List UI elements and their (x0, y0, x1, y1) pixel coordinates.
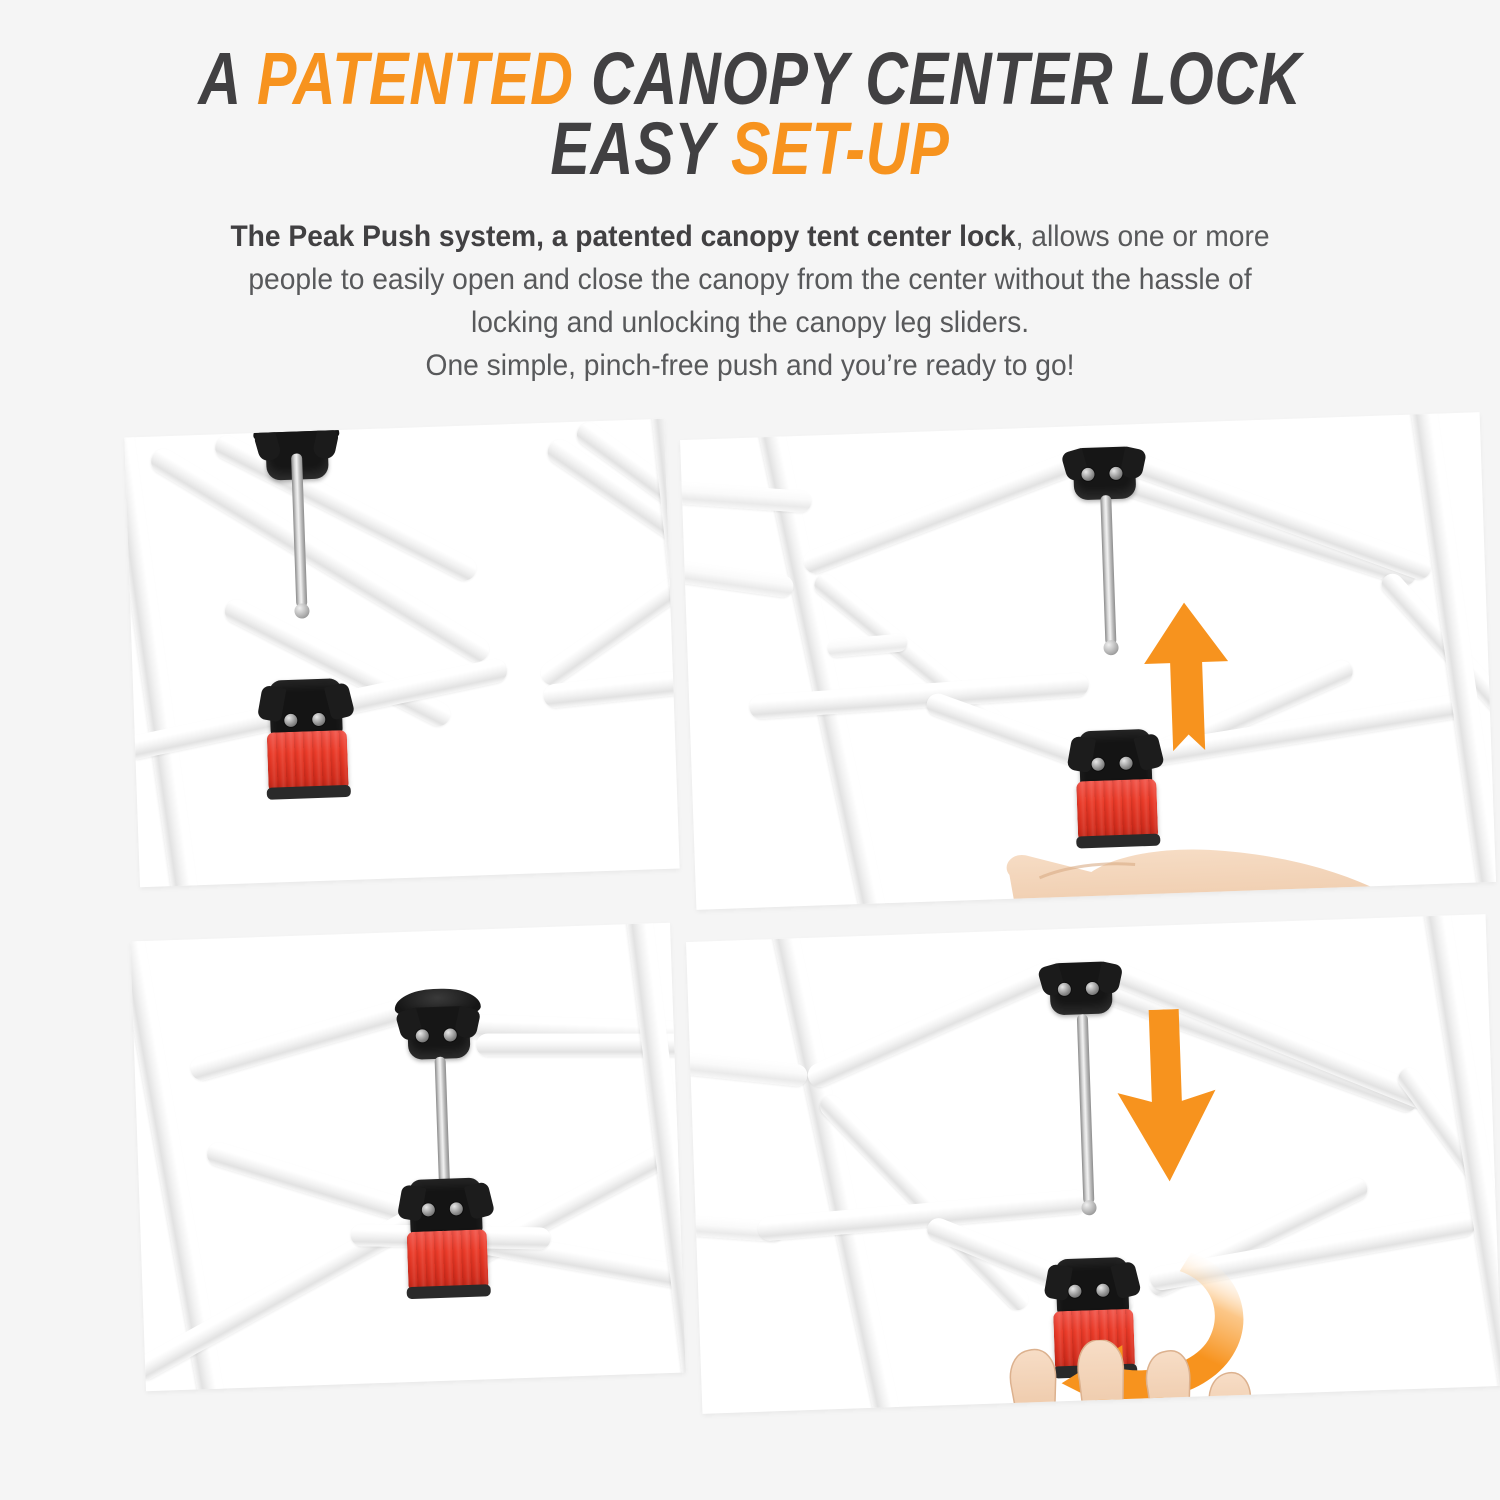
panel-bottom-right (686, 914, 1500, 1414)
center-lock-hub (409, 1177, 483, 1235)
push-rod (1077, 1014, 1095, 1204)
subtitle-line-1-rest: , allows one or more (1016, 220, 1270, 253)
frame-tube-stub-left-top (686, 1051, 809, 1088)
red-center-lock-knob[interactable] (267, 730, 349, 793)
push-rod-tip (1103, 640, 1119, 656)
subtitle-line-1: The Peak Push system, a patented canopy … (139, 215, 1361, 258)
title-line-2: EASY SET-UP (150, 114, 1350, 184)
subtitle-line-2: people to easily open and close the cano… (139, 258, 1361, 301)
image-panel-grid (0, 412, 1500, 1492)
frame-tube-rafter-right-b (1107, 444, 1435, 583)
push-rod-tip (1081, 1200, 1097, 1216)
canopy-frame-open-illustration (130, 923, 685, 1392)
title-part-c: EASY (550, 107, 731, 190)
push-rod-tip (294, 603, 310, 619)
frame-tube-lower-left-bar (749, 672, 1090, 720)
frame-tube-stub-left-mid (680, 559, 795, 599)
frame-tube-rafter-left (800, 447, 1089, 577)
title-highlight-patented: PATENTED (257, 37, 574, 120)
subtitle-line-4: One simple, pinch-free push and you’re r… (139, 344, 1361, 387)
title-line-1: A PATENTED CANOPY CENTER LOCK (150, 44, 1350, 114)
frame-tube-upper-left (188, 994, 425, 1083)
canopy-push-up-illustration (680, 412, 1496, 910)
header: A PATENTED CANOPY CENTER LOCK EASY SET-U… (0, 0, 1500, 387)
arrow-down-icon (1109, 1008, 1225, 1187)
canopy-twist-release-illustration (686, 914, 1500, 1414)
canopy-frame-closed-illustration (124, 419, 679, 888)
frame-tube-leg-far-right (1408, 412, 1496, 910)
hand-open-palm (993, 803, 1420, 910)
page-title: A PATENTED CANOPY CENTER LOCK EASY SET-U… (150, 44, 1350, 185)
subtitle-line-3: locking and unlocking the canopy leg sli… (139, 301, 1361, 344)
panel-top-right (680, 412, 1496, 910)
frame-tube-rafter-right (1098, 464, 1419, 589)
hand-pinch-grip (992, 1333, 1298, 1414)
title-part-a: A (198, 37, 257, 120)
frame-tube-leg-far-left (752, 412, 894, 910)
push-rod (1100, 495, 1116, 645)
push-rod (435, 1057, 450, 1185)
panel-top-left (124, 419, 679, 888)
subtitle-paragraph: The Peak Push system, a patented canopy … (139, 215, 1361, 388)
arrow-up-icon (1134, 599, 1240, 762)
subtitle-bold-lead: The Peak Push system, a patented canopy … (230, 220, 1015, 253)
center-lock-hub (269, 678, 343, 736)
frame-tube-lower-right (536, 521, 680, 690)
panel-bottom-left (130, 923, 685, 1392)
frame-tube-rafter-left (804, 955, 1070, 1091)
title-highlight-setup: SET-UP (731, 107, 950, 190)
red-center-lock-knob[interactable] (407, 1229, 489, 1292)
